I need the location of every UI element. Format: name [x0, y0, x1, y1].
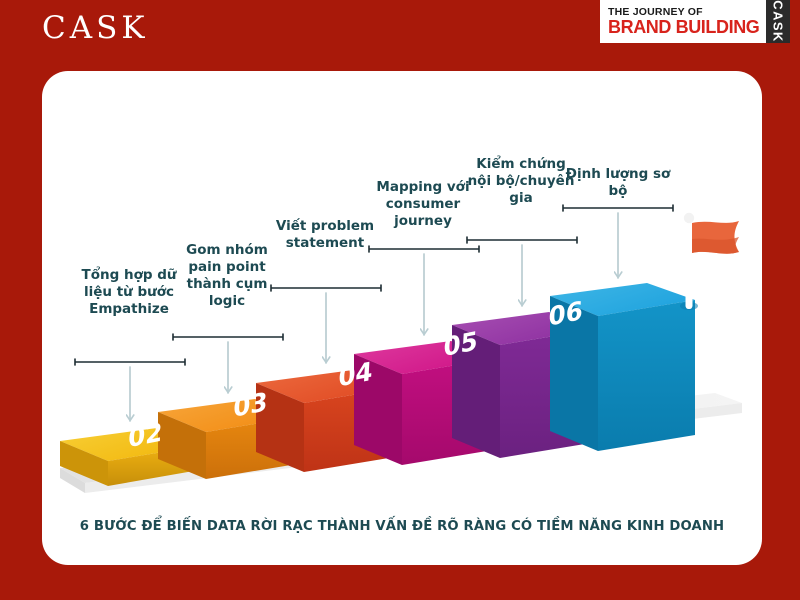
- step-number-01: 01: [42, 447, 58, 484]
- badge-line-brand-building: BRAND BUILDING: [608, 18, 766, 36]
- badge-side-label-cask: CASK: [771, 0, 786, 42]
- journey-of-brand-building-badge: THE JOURNEY OF BRAND BUILDING CASK: [600, 0, 790, 43]
- goal-flag: [680, 213, 739, 310]
- staircase-vector: 01 02 03 04: [42, 71, 762, 565]
- connector-06: [563, 205, 673, 278]
- step-block-06[interactable]: 06: [548, 283, 695, 451]
- infographic-card: Tổng hợp dữ liệu từ bước Empathize Gom n…: [42, 71, 762, 565]
- connector-04: [369, 246, 479, 335]
- staircase-diagram: Tổng hợp dữ liệu từ bước Empathize Gom n…: [42, 71, 762, 565]
- badge-text-block: THE JOURNEY OF BRAND BUILDING: [600, 0, 766, 43]
- infographic-caption: 6 BƯỚC ĐỂ BIẾN DATA RỜI RẠC THÀNH VẤN ĐỀ…: [42, 519, 762, 534]
- cask-logo: CASK: [42, 10, 149, 46]
- page-header: CASK THE JOURNEY OF BRAND BUILDING CASK: [0, 0, 800, 70]
- connector-03: [271, 285, 381, 363]
- badge-side-strip: CASK: [766, 0, 790, 43]
